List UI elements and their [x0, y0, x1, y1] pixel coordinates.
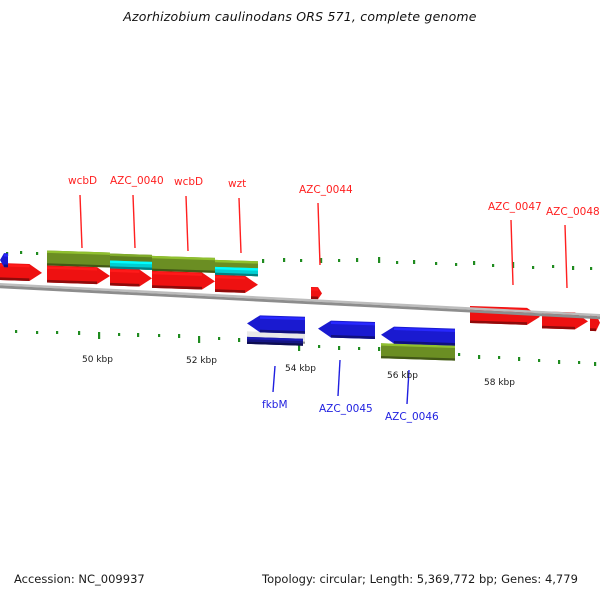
tick-mark	[98, 332, 100, 339]
tick-mark	[478, 355, 480, 359]
tick-mark	[492, 264, 494, 267]
tick-mark	[552, 265, 554, 268]
label-leader-line	[338, 360, 340, 396]
tick-mark	[378, 257, 380, 263]
tick-mark	[15, 330, 17, 333]
gene-arrow-highlight	[4, 254, 8, 257]
tick-mark	[356, 258, 358, 262]
tick-mark	[590, 267, 592, 270]
scale-label: 50 kbp	[82, 355, 113, 365]
tick-mark	[283, 258, 285, 262]
gene-arrow-shadow	[311, 296, 318, 299]
tick-mark	[578, 361, 580, 364]
label-leader-line	[565, 225, 567, 288]
tick-mark	[338, 346, 340, 350]
tick-mark	[473, 261, 475, 265]
label-leader-lines-group	[80, 195, 567, 404]
tick-mark	[78, 331, 80, 335]
genome-axis-line[interactable]	[0, 285, 600, 319]
tick-mark	[498, 356, 500, 359]
tick-mark	[20, 251, 22, 254]
gene-label-wcbd[interactable]: wcbD	[174, 177, 203, 188]
gene-label-azc_0048[interactable]: AZC_0048	[546, 207, 600, 218]
tick-mark	[435, 262, 437, 265]
tick-mark	[594, 362, 596, 366]
label-leader-line	[511, 220, 513, 285]
scale-label: 58 kbp	[484, 378, 515, 388]
tick-mark	[198, 336, 200, 343]
tick-mark	[396, 261, 398, 264]
label-leader-line	[133, 195, 135, 248]
gene-forward[interactable]	[47, 266, 110, 285]
label-leader-line	[318, 203, 320, 265]
domain-bar	[47, 251, 110, 268]
genome-axis-highlight	[0, 283, 600, 316]
gene-label-wcbd[interactable]: wcbD	[68, 176, 97, 187]
tick-mark	[455, 263, 457, 266]
gene-arrow-shadow	[4, 265, 8, 268]
tick-mark	[572, 266, 574, 270]
tick-mark	[36, 331, 38, 334]
tick-mark	[458, 353, 460, 356]
tick-mark	[413, 260, 415, 264]
tick-mark	[358, 347, 360, 350]
gene-label-azc_0040[interactable]: AZC_0040	[110, 176, 164, 187]
gene-label-azc_0046[interactable]: AZC_0046	[385, 412, 439, 423]
tick-mark	[558, 360, 560, 364]
gene-arrow-highlight	[311, 288, 318, 291]
tick-mark	[178, 334, 180, 338]
scale-label: 56 kbp	[387, 371, 418, 381]
gene-reverse[interactable]	[381, 327, 455, 346]
gene-arrow-shadow	[590, 328, 596, 331]
tick-mark	[158, 334, 160, 337]
tick-mark	[532, 266, 534, 269]
accession-text: Accession: NC_009937	[14, 572, 145, 586]
label-leader-line	[239, 198, 241, 253]
domain-bar	[110, 261, 152, 270]
genome-axis-group	[0, 283, 600, 319]
gene-forward[interactable]	[110, 269, 152, 287]
tick-mark	[538, 359, 540, 362]
tick-mark	[218, 337, 220, 340]
label-leader-line	[273, 366, 275, 392]
gene-forward[interactable]	[311, 287, 322, 299]
genome-stats-text: Topology: circular; Length: 5,369,772 bp…	[262, 572, 578, 586]
genome-browser-view: Azorhizobium caulinodans ORS 571, comple…	[0, 0, 600, 600]
tick-mark	[137, 333, 139, 337]
gene-label-wzt[interactable]: wzt	[228, 179, 246, 190]
tick-mark	[56, 331, 58, 334]
tick-mark	[378, 347, 380, 351]
gene-label-azc_0045[interactable]: AZC_0045	[319, 404, 373, 415]
tick-mark	[238, 338, 240, 342]
scale-label: 52 kbp	[186, 356, 217, 366]
domain-bar	[381, 343, 455, 360]
label-leader-line	[186, 196, 188, 251]
gene-forward[interactable]	[152, 271, 215, 290]
genome-track-canvas	[0, 0, 600, 600]
domain-bar	[152, 256, 215, 273]
gene-label-azc_0047[interactable]: AZC_0047	[488, 202, 542, 213]
gene-reverse[interactable]	[318, 321, 375, 339]
scale-label: 54 kbp	[285, 364, 316, 374]
tick-mark	[318, 345, 320, 348]
tick-mark	[518, 357, 520, 361]
tick-mark	[36, 252, 38, 255]
tick-mark	[338, 259, 340, 262]
tick-mark	[118, 333, 120, 336]
domain-bar	[215, 267, 258, 276]
tick-mark	[262, 259, 264, 263]
gene-label-azc_0044[interactable]: AZC_0044	[299, 185, 353, 196]
gene-forward[interactable]	[215, 275, 258, 293]
gene-label-fkbm[interactable]: fkbM	[262, 400, 288, 411]
label-leader-line	[80, 195, 82, 248]
tick-mark	[300, 259, 302, 262]
